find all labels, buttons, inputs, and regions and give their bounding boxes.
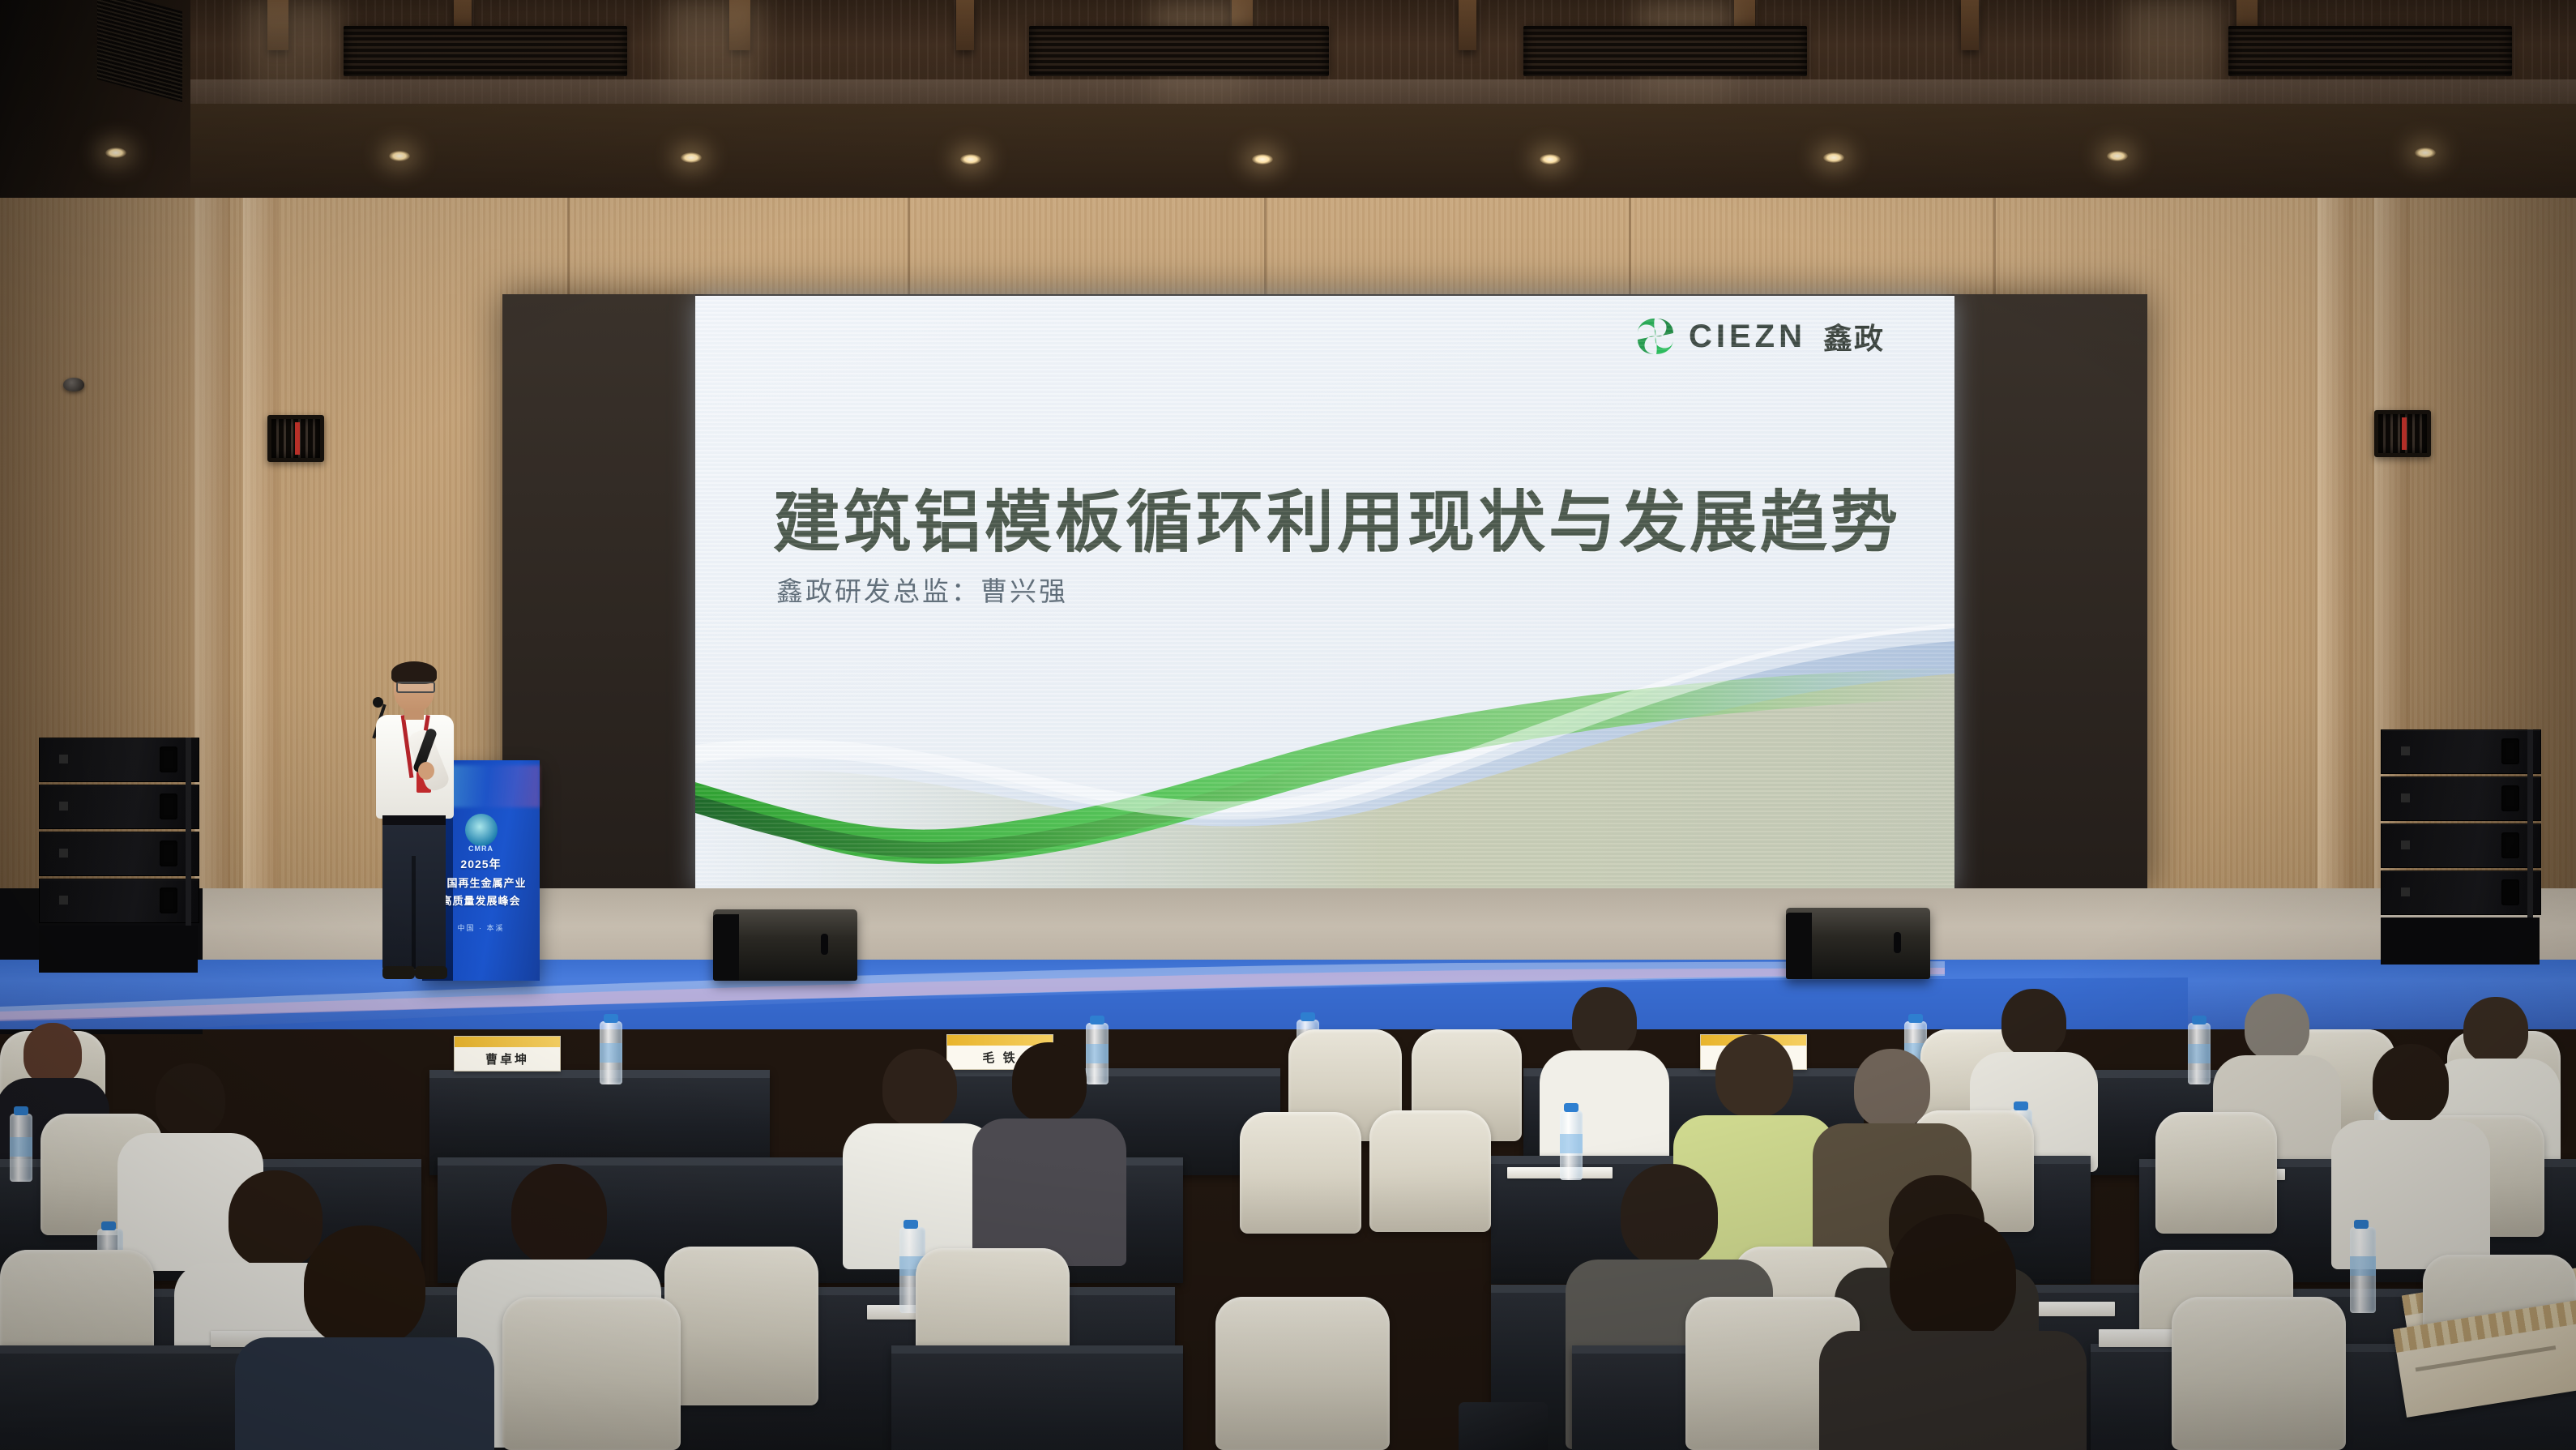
person-head [882, 1049, 957, 1127]
person-head [23, 1023, 82, 1084]
slide-brand-logo: CIEZN 鑫政 [1634, 315, 1885, 357]
conference-hall-scene: CIEZN 鑫政 建筑铝模板循环利用现状与发展趋势 鑫政研发总监：曹兴强 CMR… [0, 0, 2576, 1450]
person-head [1854, 1049, 1930, 1128]
ceiling-downlight [1252, 154, 1273, 165]
presenter-shoe [415, 966, 447, 979]
line-array-speaker-stack-right [2381, 729, 2540, 917]
name-card-header-bar [455, 1037, 560, 1047]
stage-monitor-speaker [1786, 908, 1930, 979]
water-bottle [1086, 1023, 1109, 1084]
line-array-rigging-rail [2527, 729, 2533, 917]
slide-subtitle: 鑫政研发总监：曹兴强 [776, 570, 1068, 609]
ceiling-vent-grille [2228, 26, 2512, 76]
ceiling-vent-grille [1029, 26, 1329, 76]
screen-side-panel-right [1954, 294, 2147, 892]
line-array-module [39, 879, 199, 923]
water-bottle [600, 1021, 622, 1084]
line-array-speaker-stack-left [39, 738, 198, 926]
person-head [1715, 1034, 1793, 1117]
presenter-hair [391, 661, 437, 684]
audience-person [989, 1101, 1110, 1255]
audience-chair [1215, 1297, 1390, 1450]
ceiling-downlight [1540, 154, 1561, 165]
table-name-card: 曹卓坤 [454, 1036, 561, 1071]
ceiling-downlight [389, 151, 410, 161]
logo-latin-text: CIEZN [1689, 319, 1806, 355]
person-head [1572, 987, 1637, 1057]
person-head [511, 1164, 607, 1264]
line-array-rigging-rail [186, 738, 191, 926]
ceiling-vent-grille [1523, 26, 1807, 76]
ceiling-beam [1459, 0, 1476, 50]
person-head [1012, 1042, 1087, 1122]
presentation-slide: CIEZN 鑫政 建筑铝模板循环利用现状与发展趋势 鑫政研发总监：曹兴强 [695, 296, 1954, 891]
floor-bag [1459, 1402, 1548, 1450]
person-head [229, 1170, 323, 1268]
presenter-person [370, 665, 459, 985]
presenter-shoe [382, 966, 415, 979]
wall-vent-panel [2374, 410, 2431, 457]
ceiling-corner-grille-icon [97, 0, 182, 102]
presenter-belt [382, 815, 446, 825]
audience-person [276, 1313, 454, 1450]
person-head [2373, 1044, 2449, 1123]
ceiling-downlight [105, 148, 126, 158]
ceiling-lower-panel [0, 104, 2576, 203]
cmra-logo-icon [465, 814, 498, 846]
monitor-handle-slot [821, 934, 828, 955]
ceiling-dome-camera-icon [63, 378, 84, 391]
stage-monitor-speaker [713, 909, 857, 981]
ceiling-corner-dark [0, 0, 190, 203]
person-body [1540, 1050, 1669, 1172]
ceiling [0, 0, 2576, 203]
presenter-glasses-icon [396, 682, 435, 693]
line-array-subwoofer [39, 926, 198, 973]
ceiling-beam [956, 0, 974, 50]
audience-chair [664, 1247, 818, 1405]
cmra-logo-label: CMRA [468, 845, 493, 853]
wall-vent-panel [267, 415, 324, 462]
line-array-module [2381, 823, 2541, 868]
person-head [1621, 1164, 1718, 1266]
ceiling-downlight [2107, 151, 2128, 161]
monitor-side-face [713, 914, 739, 981]
booklet-text-line [2416, 1345, 2557, 1371]
person-head [2245, 994, 2309, 1060]
audience-table [891, 1345, 1183, 1450]
ciezn-pinwheel-logo-icon [1634, 315, 1677, 357]
name-card-text: 曹卓坤 [455, 1047, 560, 1071]
ceiling-beam [1961, 0, 1979, 50]
logo-chinese-text: 鑫政 [1823, 315, 1885, 357]
pinwheel-svg [1634, 315, 1677, 357]
slide-title: 建筑铝模板循环利用现状与发展趋势 [773, 468, 1907, 565]
line-array-module [39, 738, 199, 782]
person-head [156, 1063, 225, 1136]
person-body [972, 1119, 1126, 1266]
water-bottle [2350, 1227, 2376, 1313]
line-array-subwoofer [2381, 917, 2540, 965]
ceiling-downlight [681, 152, 702, 163]
presenter-leg-gap [412, 856, 416, 969]
slide-wave-graphic [695, 623, 1954, 891]
audience-chair [2155, 1112, 2277, 1234]
wall-vent-indicator [295, 422, 300, 455]
person-head [2463, 997, 2528, 1063]
line-array-module [2381, 870, 2541, 915]
water-bottle [1560, 1110, 1583, 1180]
person-body [1819, 1331, 2087, 1450]
ceiling-downlight [2415, 148, 2436, 158]
monitor-handle-slot [1894, 932, 1901, 953]
audience-chair [1240, 1112, 1361, 1234]
audience-chair [502, 1297, 681, 1450]
person-head [2001, 989, 2066, 1057]
presenter-hand [418, 762, 434, 780]
person-head [304, 1225, 425, 1347]
wall-vent-indicator [2402, 417, 2407, 450]
water-bottle [2188, 1023, 2211, 1084]
ceiling-downlight [1823, 152, 1844, 163]
person-head [1890, 1214, 2016, 1341]
audience-person [1864, 1305, 2042, 1450]
water-bottle [10, 1114, 32, 1182]
line-array-module [2381, 776, 2541, 821]
ceiling-downlight [960, 154, 981, 165]
led-screen-frame: CIEZN 鑫政 建筑铝模板循环利用现状与发展趋势 鑫政研发总监：曹兴强 [502, 294, 2147, 892]
monitor-side-face [1786, 913, 1812, 979]
audience-chair [1369, 1110, 1491, 1232]
person-body [235, 1337, 494, 1450]
wave-svg [695, 623, 1954, 891]
line-array-module [39, 832, 199, 876]
line-array-module [39, 785, 199, 829]
audience-chair [2172, 1297, 2346, 1450]
ceiling-vent-grille [344, 26, 627, 76]
line-array-module [2381, 729, 2541, 774]
